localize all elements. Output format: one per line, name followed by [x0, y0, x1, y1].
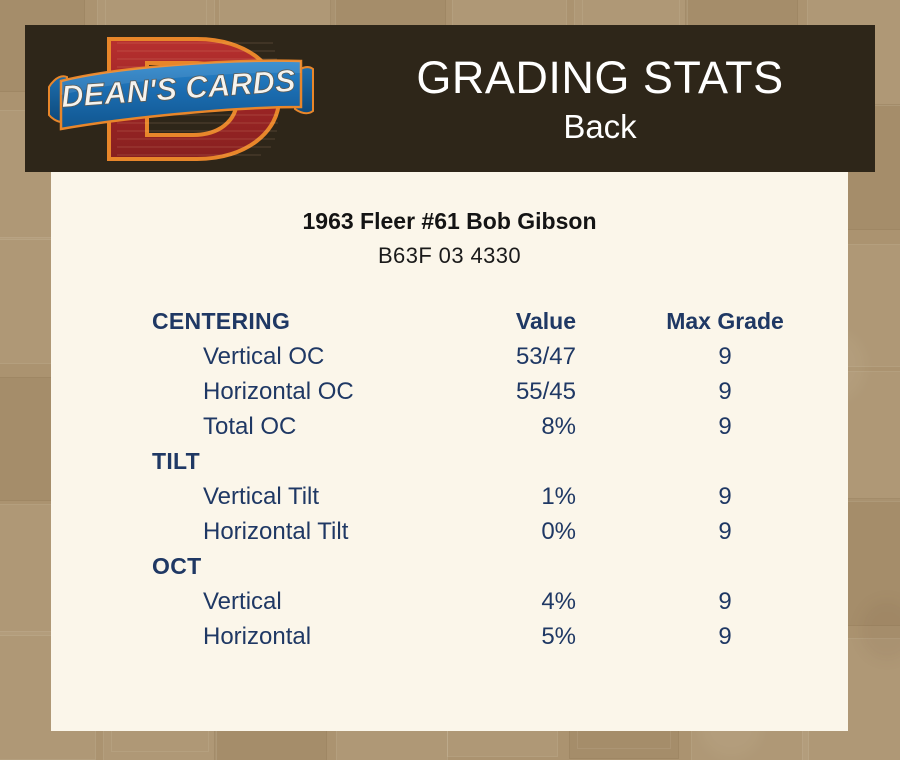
row-value: 53/47 — [436, 339, 576, 374]
card-title: 1963 Fleer #61 Bob Gibson — [51, 207, 848, 235]
row-value: 55/45 — [436, 374, 576, 409]
column-header-centering: CENTERING — [152, 304, 290, 339]
table-row: Horizontal OC 55/45 9 — [51, 374, 848, 409]
table-row: Horizontal Tilt 0% 9 — [51, 514, 848, 549]
row-grade: 9 — [655, 514, 795, 549]
row-label: Horizontal OC — [203, 374, 354, 409]
card-code: B63F 03 4330 — [51, 242, 848, 269]
page-subtitle: Back — [563, 107, 636, 147]
row-grade: 9 — [655, 374, 795, 409]
section-label: OCT — [152, 549, 201, 584]
row-grade: 9 — [655, 409, 795, 444]
table-header-row: CENTERING Value Max Grade — [51, 304, 848, 339]
table-row: Vertical OC 53/47 9 — [51, 339, 848, 374]
table-row: Total OC 8% 9 — [51, 409, 848, 444]
content-panel: 1963 Fleer #61 Bob Gibson B63F 03 4330 C… — [51, 172, 848, 731]
grading-stats-table: CENTERING Value Max Grade Vertical OC 53… — [51, 304, 848, 654]
row-grade: 9 — [655, 584, 795, 619]
row-label: Total OC — [203, 409, 296, 444]
row-value: 4% — [436, 584, 576, 619]
row-grade: 9 — [655, 479, 795, 514]
row-label: Horizontal — [203, 619, 311, 654]
row-label: Vertical — [203, 584, 282, 619]
table-row: Vertical Tilt 1% 9 — [51, 479, 848, 514]
header-bar: DEAN'S CARDS GRADING STATS Back — [25, 25, 875, 172]
row-grade: 9 — [655, 619, 795, 654]
deans-cards-logo[interactable]: DEAN'S CARDS — [47, 29, 315, 169]
header-title-block: GRADING STATS Back — [325, 25, 875, 172]
row-value: 5% — [436, 619, 576, 654]
row-label: Horizontal Tilt — [203, 514, 348, 549]
section-label: TILT — [152, 444, 200, 479]
page-title: GRADING STATS — [416, 51, 783, 105]
page-root: DEAN'S CARDS GRADING STATS Back 1963 Fle… — [0, 0, 900, 760]
row-grade: 9 — [655, 339, 795, 374]
table-row: Vertical 4% 9 — [51, 584, 848, 619]
row-label: Vertical Tilt — [203, 479, 319, 514]
row-label: Vertical OC — [203, 339, 324, 374]
table-row: Horizontal 5% 9 — [51, 619, 848, 654]
row-value: 0% — [436, 514, 576, 549]
row-value: 1% — [436, 479, 576, 514]
row-value: 8% — [436, 409, 576, 444]
column-header-max-grade: Max Grade — [655, 304, 795, 339]
section-header-tilt: TILT — [51, 444, 848, 479]
column-header-value: Value — [436, 304, 576, 339]
section-header-oct: OCT — [51, 549, 848, 584]
